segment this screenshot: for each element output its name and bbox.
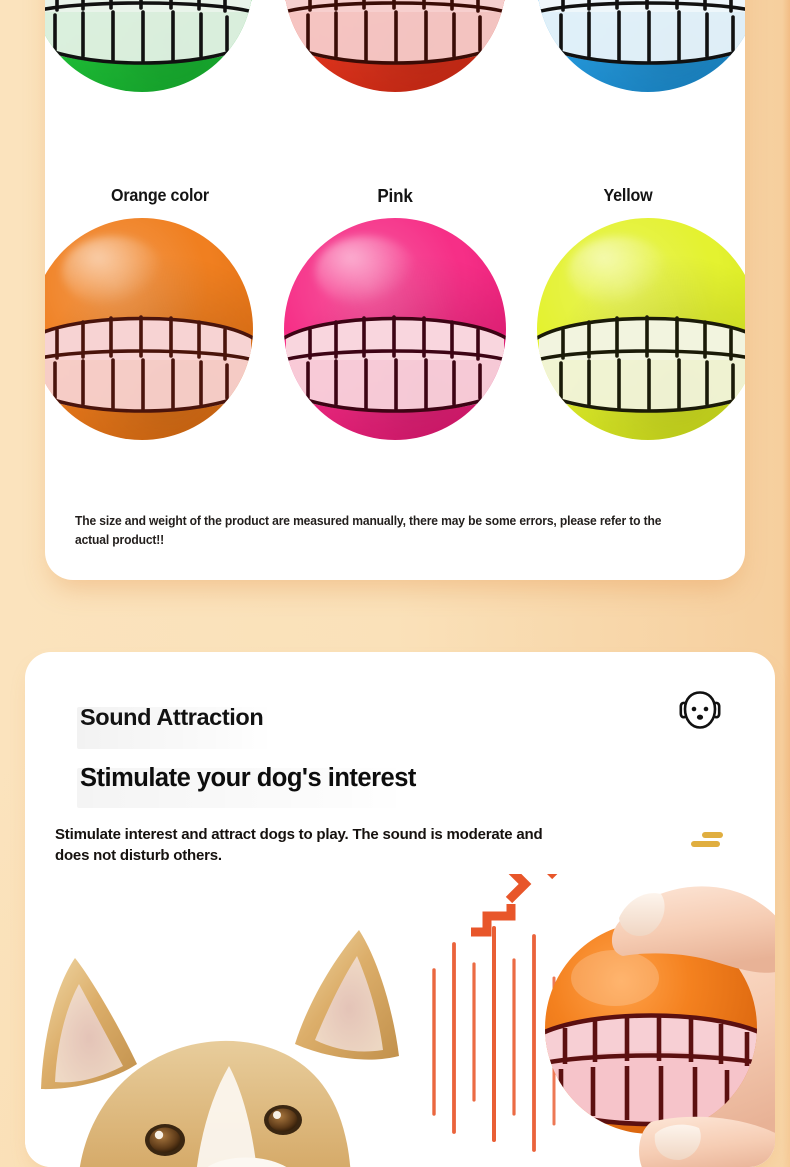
swatch-label-yellow: Yellow xyxy=(541,185,716,206)
orange-ball xyxy=(45,218,253,440)
gold-bar-top xyxy=(702,832,723,838)
swatch-cell-pink[interactable] xyxy=(278,218,511,468)
gold-accent-mark xyxy=(691,830,723,850)
pink-ball xyxy=(284,218,506,440)
swatch-cell-blue[interactable] xyxy=(531,0,745,120)
section-subcopy: Stimulate interest and attract dogs to p… xyxy=(55,824,545,867)
swatch-cell-yellow[interactable] xyxy=(531,218,745,468)
swatch-label-orange: Orange color xyxy=(73,185,248,206)
swatch-cell-green[interactable] xyxy=(45,0,258,120)
swatch-row-top xyxy=(45,0,745,120)
orange-teeth-ball-in-hand[interactable] xyxy=(523,874,775,1167)
color-swatch-card: Orange color Pink Yellow xyxy=(45,0,745,580)
section-headline: Stimulate your dog's interest xyxy=(80,764,416,793)
gold-bar-bottom xyxy=(691,841,720,847)
measurement-disclaimer: The size and weight of the product are m… xyxy=(75,512,691,550)
swatch-label-row: Orange color Pink Yellow xyxy=(45,185,745,215)
green-ball xyxy=(45,0,253,92)
sound-demo-scene xyxy=(25,874,775,1167)
kicker-block: Sound Attraction xyxy=(80,704,263,731)
product-detail-page: Orange color Pink Yellow xyxy=(0,0,790,1167)
red-ball xyxy=(284,0,506,92)
swatch-grid: Orange color Pink Yellow xyxy=(45,0,745,480)
swatch-cell-red[interactable] xyxy=(278,0,511,120)
yellow-ball xyxy=(537,218,746,440)
dog-face-icon xyxy=(672,685,728,741)
headline-block: Stimulate your dog's interest xyxy=(80,764,416,793)
blue-ball xyxy=(537,0,746,92)
swatch-label-pink: Pink xyxy=(308,185,483,207)
swatch-cell-orange[interactable] xyxy=(45,218,258,468)
swatch-row-bottom xyxy=(45,218,745,468)
corgi-dog-photo xyxy=(33,914,433,1167)
sound-attraction-card: Sound Attraction Stimulate your dog's in… xyxy=(25,652,775,1167)
section-kicker: Sound Attraction xyxy=(80,704,263,731)
